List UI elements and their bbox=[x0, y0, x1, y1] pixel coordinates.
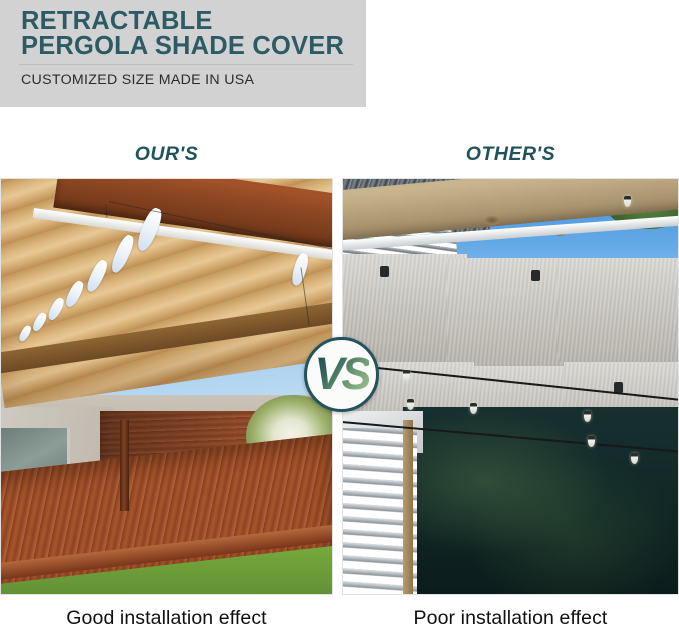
cloth-clip bbox=[380, 266, 389, 277]
page-title: RETRACTABLE PERGOLA SHADE COVER bbox=[21, 9, 361, 59]
banner-subtitle: CUSTOMIZED SIZE MADE IN USA bbox=[21, 71, 254, 89]
light-bulb bbox=[407, 399, 414, 410]
column-heading-others: OTHER'S bbox=[342, 143, 679, 166]
light-bulb bbox=[631, 453, 638, 464]
dark-foliage-background bbox=[403, 407, 678, 594]
banner-divider bbox=[19, 64, 353, 65]
caption-poor-installation: Poor installation effect bbox=[342, 607, 679, 630]
pergola-post bbox=[120, 420, 129, 511]
photo-good-installation bbox=[0, 178, 333, 595]
railing-post bbox=[403, 420, 413, 594]
cloth-clip bbox=[531, 270, 540, 281]
vs-label: VS bbox=[314, 351, 368, 399]
column-heading-ours: OUR'S bbox=[0, 143, 333, 166]
header-banner: RETRACTABLE PERGOLA SHADE COVER CUSTOMIZ… bbox=[0, 0, 366, 107]
caption-good-installation: Good installation effect bbox=[0, 607, 333, 630]
photo-poor-installation bbox=[342, 178, 679, 595]
vs-badge: VS bbox=[304, 337, 379, 412]
light-bulb bbox=[588, 436, 595, 447]
